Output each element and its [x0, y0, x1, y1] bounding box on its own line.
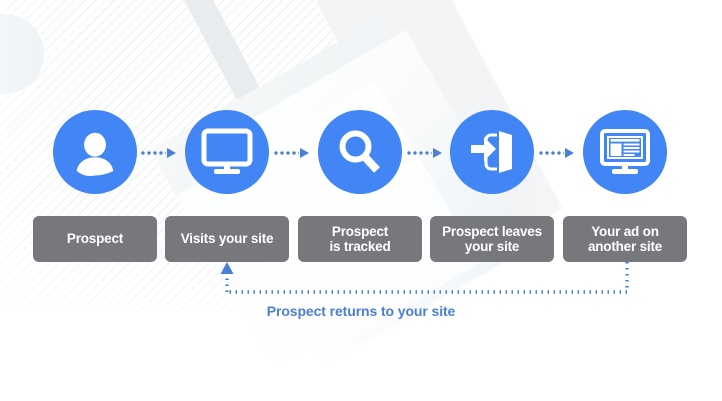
connector-1 [140, 148, 176, 158]
monitor-icon [201, 128, 253, 176]
background-circle-shape [0, 14, 44, 94]
infographic-canvas: Prospect Visits your site Prospectis tra… [0, 0, 722, 401]
chip-text: Prospect leavesyour site [442, 224, 542, 254]
arrow-head-icon [433, 148, 442, 158]
background-decoration [0, 0, 722, 401]
connector-4 [538, 148, 574, 158]
return-path-caption: Prospect returns to your site [0, 303, 722, 319]
exit-door-icon [466, 127, 518, 177]
step-icon-leaves-site[interactable] [450, 110, 534, 194]
background-bottom-fade [0, 0, 722, 401]
connector-dots [273, 151, 299, 155]
step-icon-prospect[interactable] [53, 110, 137, 194]
step-icon-tracked[interactable] [318, 110, 402, 194]
step-label-prospect[interactable]: Prospect [33, 216, 157, 262]
connector-2 [273, 148, 309, 158]
step-label-visits-site[interactable]: Visits your site [165, 216, 289, 262]
connector-3 [406, 148, 442, 158]
chip-text: Prospectis tracked [329, 224, 390, 254]
connector-dots [140, 151, 166, 155]
step-label-ad-another-site[interactable]: Your ad onanother site [563, 216, 687, 262]
step-label-tracked[interactable]: Prospectis tracked [298, 216, 422, 262]
arrow-head-icon [565, 148, 574, 158]
arrow-head-icon [300, 148, 309, 158]
step-icon-ad-another-site[interactable] [583, 110, 667, 194]
background-side-fade [0, 0, 722, 401]
step-label-leaves-site[interactable]: Prospect leavesyour site [430, 216, 554, 262]
chip-text: Your ad onanother site [588, 224, 662, 254]
user-icon [70, 127, 120, 177]
return-arrow-head-icon [221, 262, 234, 274]
magnifier-icon [335, 127, 385, 177]
connector-dots [538, 151, 564, 155]
arrow-head-icon [167, 148, 176, 158]
chip-text: Prospect [67, 231, 123, 246]
step-icon-visits-site[interactable] [185, 110, 269, 194]
chip-text: Visits your site [181, 231, 274, 246]
connector-dots [406, 151, 432, 155]
ad-monitor-icon [599, 128, 651, 176]
